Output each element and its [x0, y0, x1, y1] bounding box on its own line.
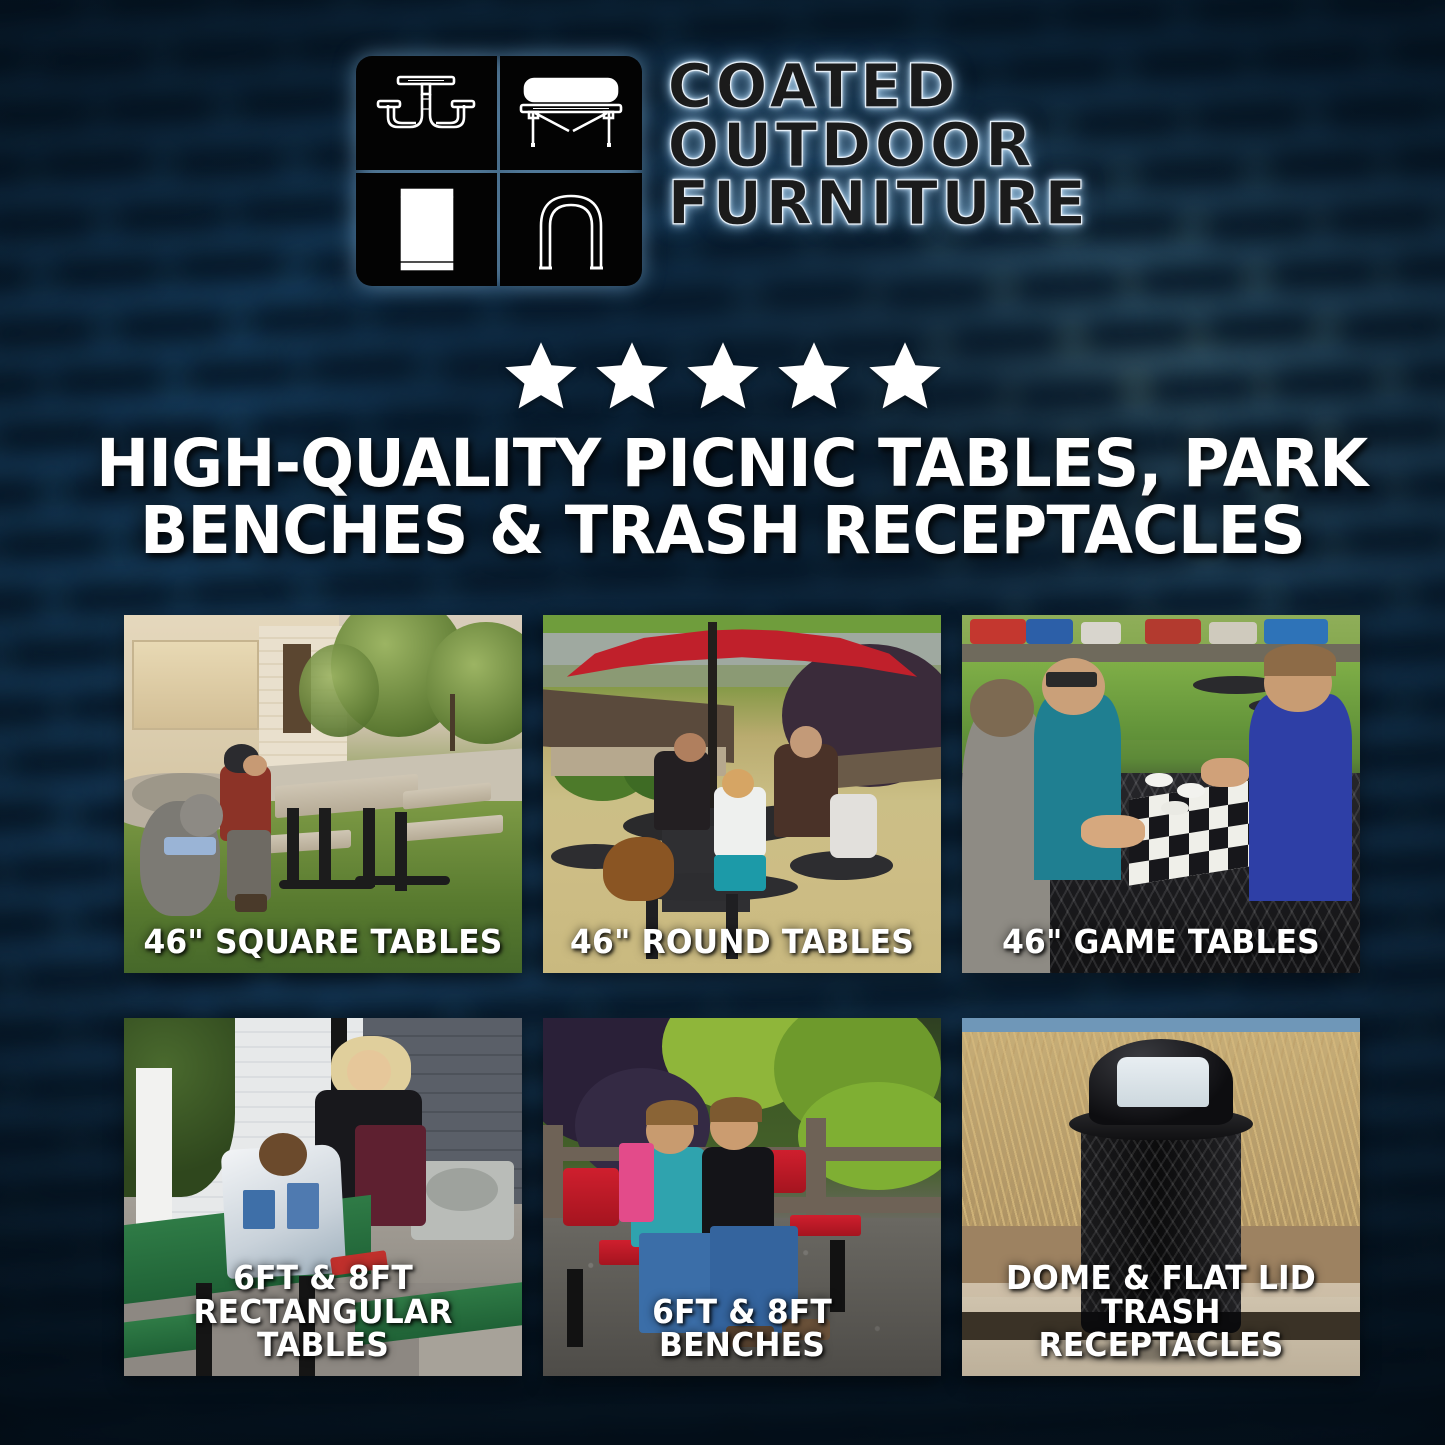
product-photo-square-tables: [124, 615, 522, 973]
product-card-rectangular-tables[interactable]: 6FT & 8FT RECTANGULAR TABLES: [124, 1018, 522, 1376]
product-caption-square-tables: 46" SQUARE TABLES: [134, 925, 512, 959]
brand-logo-block: COATED OUTDOOR FURNITURE: [0, 56, 1445, 286]
brand-wordmark: COATED OUTDOOR FURNITURE: [668, 56, 1090, 234]
product-photo-game-tables: [962, 615, 1360, 973]
caption-line-1: 46" GAME TABLES: [1002, 922, 1320, 961]
picnic-table-front-icon: [356, 56, 498, 170]
brand-word-line-3: FURNITURE: [668, 175, 1090, 234]
caption-line-2: TRASH RECEPTACLES: [980, 1295, 1343, 1362]
product-caption-game-tables: 46" GAME TABLES: [972, 925, 1350, 959]
product-caption-round-tables: 46" ROUND TABLES: [553, 925, 931, 959]
coated-outdoor-furniture-logo-icon: [356, 56, 642, 286]
caption-line-2: RECTANGULAR TABLES: [142, 1295, 505, 1362]
star-icon: [500, 337, 582, 415]
bench-table-side-icon: [500, 56, 642, 170]
star-rating: [0, 337, 1445, 415]
brand-word-line-2: OUTDOOR: [668, 117, 1090, 176]
product-card-trash-receptacles[interactable]: DOME & FLAT LID TRASH RECEPTACLES: [962, 1018, 1360, 1376]
product-card-game-tables[interactable]: 46" GAME TABLES: [962, 615, 1360, 973]
star-icon: [591, 337, 673, 415]
product-caption-rectangular-tables: 6FT & 8FT RECTANGULAR TABLES: [134, 1261, 512, 1362]
headline-line-1: HIGH-QUALITY PICNIC TABLES, PARK: [96, 430, 1349, 497]
product-card-square-tables[interactable]: 46" SQUARE TABLES: [124, 615, 522, 973]
product-grid: 46" SQUARE TABLES: [124, 615, 1322, 1376]
star-icon: [773, 337, 855, 415]
product-photo-round-tables: [543, 615, 941, 973]
product-card-benches[interactable]: 6FT & 8FT BENCHES: [543, 1018, 941, 1376]
headline-line-2: BENCHES & TRASH RECEPTACLES: [96, 497, 1349, 564]
headline: HIGH-QUALITY PICNIC TABLES, PARK BENCHES…: [29, 430, 1416, 565]
product-card-round-tables[interactable]: 46" ROUND TABLES: [543, 615, 941, 973]
product-caption-trash-receptacles: DOME & FLAT LID TRASH RECEPTACLES: [972, 1261, 1350, 1362]
trash-receptacle-icon: [356, 173, 498, 287]
star-icon: [864, 337, 946, 415]
caption-line-2: BENCHES: [561, 1328, 924, 1362]
caption-line-1: 46" SQUARE TABLES: [143, 922, 502, 961]
star-icon: [682, 337, 764, 415]
brand-word-line-1: COATED: [668, 58, 1090, 117]
arch-bike-rack-icon: [500, 173, 642, 287]
promo-content: COATED OUTDOOR FURNITURE HIGH-QUALITY PI…: [0, 0, 1445, 1445]
product-caption-benches: 6FT & 8FT BENCHES: [553, 1295, 931, 1362]
caption-line-1: 46" ROUND TABLES: [570, 922, 914, 961]
